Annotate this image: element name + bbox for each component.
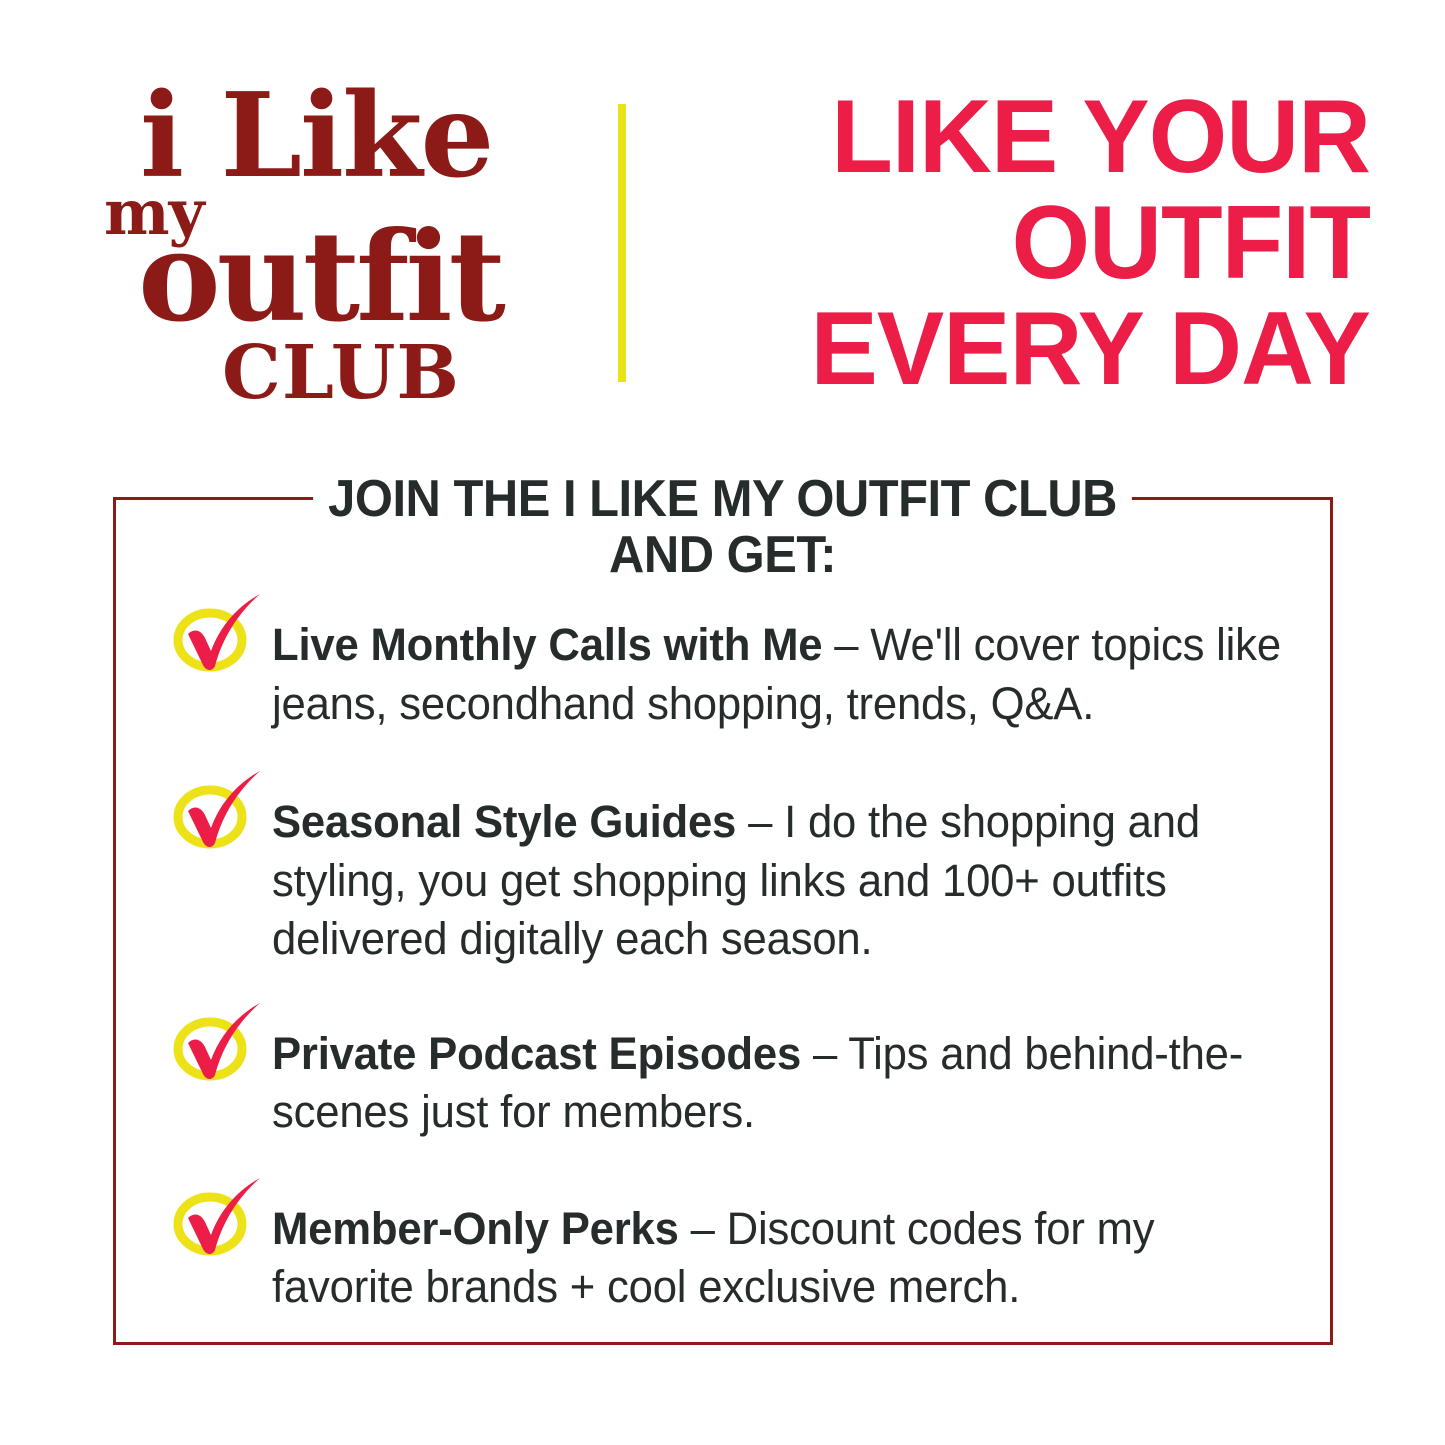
benefit-lead: Seasonal Style Guides xyxy=(272,796,736,847)
headline-line-1: LIKE YOUR xyxy=(710,84,1370,190)
yellow-circle-red-check-icon xyxy=(168,1172,264,1268)
benefit-lead: Live Monthly Calls with Me xyxy=(272,619,822,670)
headline-line-2: OUTFIT xyxy=(710,190,1370,296)
benefit-lead: Member-Only Perks xyxy=(272,1203,679,1254)
benefits-list: Live Monthly Calls with Me – We'll cover… xyxy=(113,600,1333,1317)
benefit-text: Seasonal Style Guides – I do the shoppin… xyxy=(272,777,1301,969)
benefit-item: Member-Only Perks – Discount codes for m… xyxy=(113,1184,1333,1317)
benefit-text: Live Monthly Calls with Me – We'll cover… xyxy=(272,600,1301,733)
benefit-item: Seasonal Style Guides – I do the shoppin… xyxy=(113,777,1333,969)
poster-header: i Like my outfit CLUB LIKE YOUR OUTFIT E… xyxy=(0,0,1445,430)
brand-logo: i Like my outfit CLUB xyxy=(104,78,574,398)
logo-word-outfit: outfit xyxy=(138,216,502,340)
headline: LIKE YOUR OUTFIT EVERY DAY xyxy=(710,84,1370,402)
yellow-circle-red-check-icon xyxy=(168,588,264,684)
vertical-divider-rule xyxy=(618,104,626,382)
benefit-text: Private Podcast Episodes – Tips and behi… xyxy=(272,1009,1301,1142)
benefit-item: Private Podcast Episodes – Tips and behi… xyxy=(113,1009,1333,1142)
benefit-lead: Private Podcast Episodes xyxy=(272,1028,801,1079)
benefit-item: Live Monthly Calls with Me – We'll cover… xyxy=(113,600,1333,733)
headline-line-3: EVERY DAY xyxy=(710,296,1370,402)
logo-word-club: CLUB xyxy=(222,336,460,410)
yellow-circle-red-check-icon xyxy=(168,997,264,1093)
yellow-circle-red-check-icon xyxy=(168,765,264,861)
promo-poster: i Like my outfit CLUB LIKE YOUR OUTFIT E… xyxy=(0,0,1445,1445)
benefit-text: Member-Only Perks – Discount codes for m… xyxy=(272,1184,1301,1317)
